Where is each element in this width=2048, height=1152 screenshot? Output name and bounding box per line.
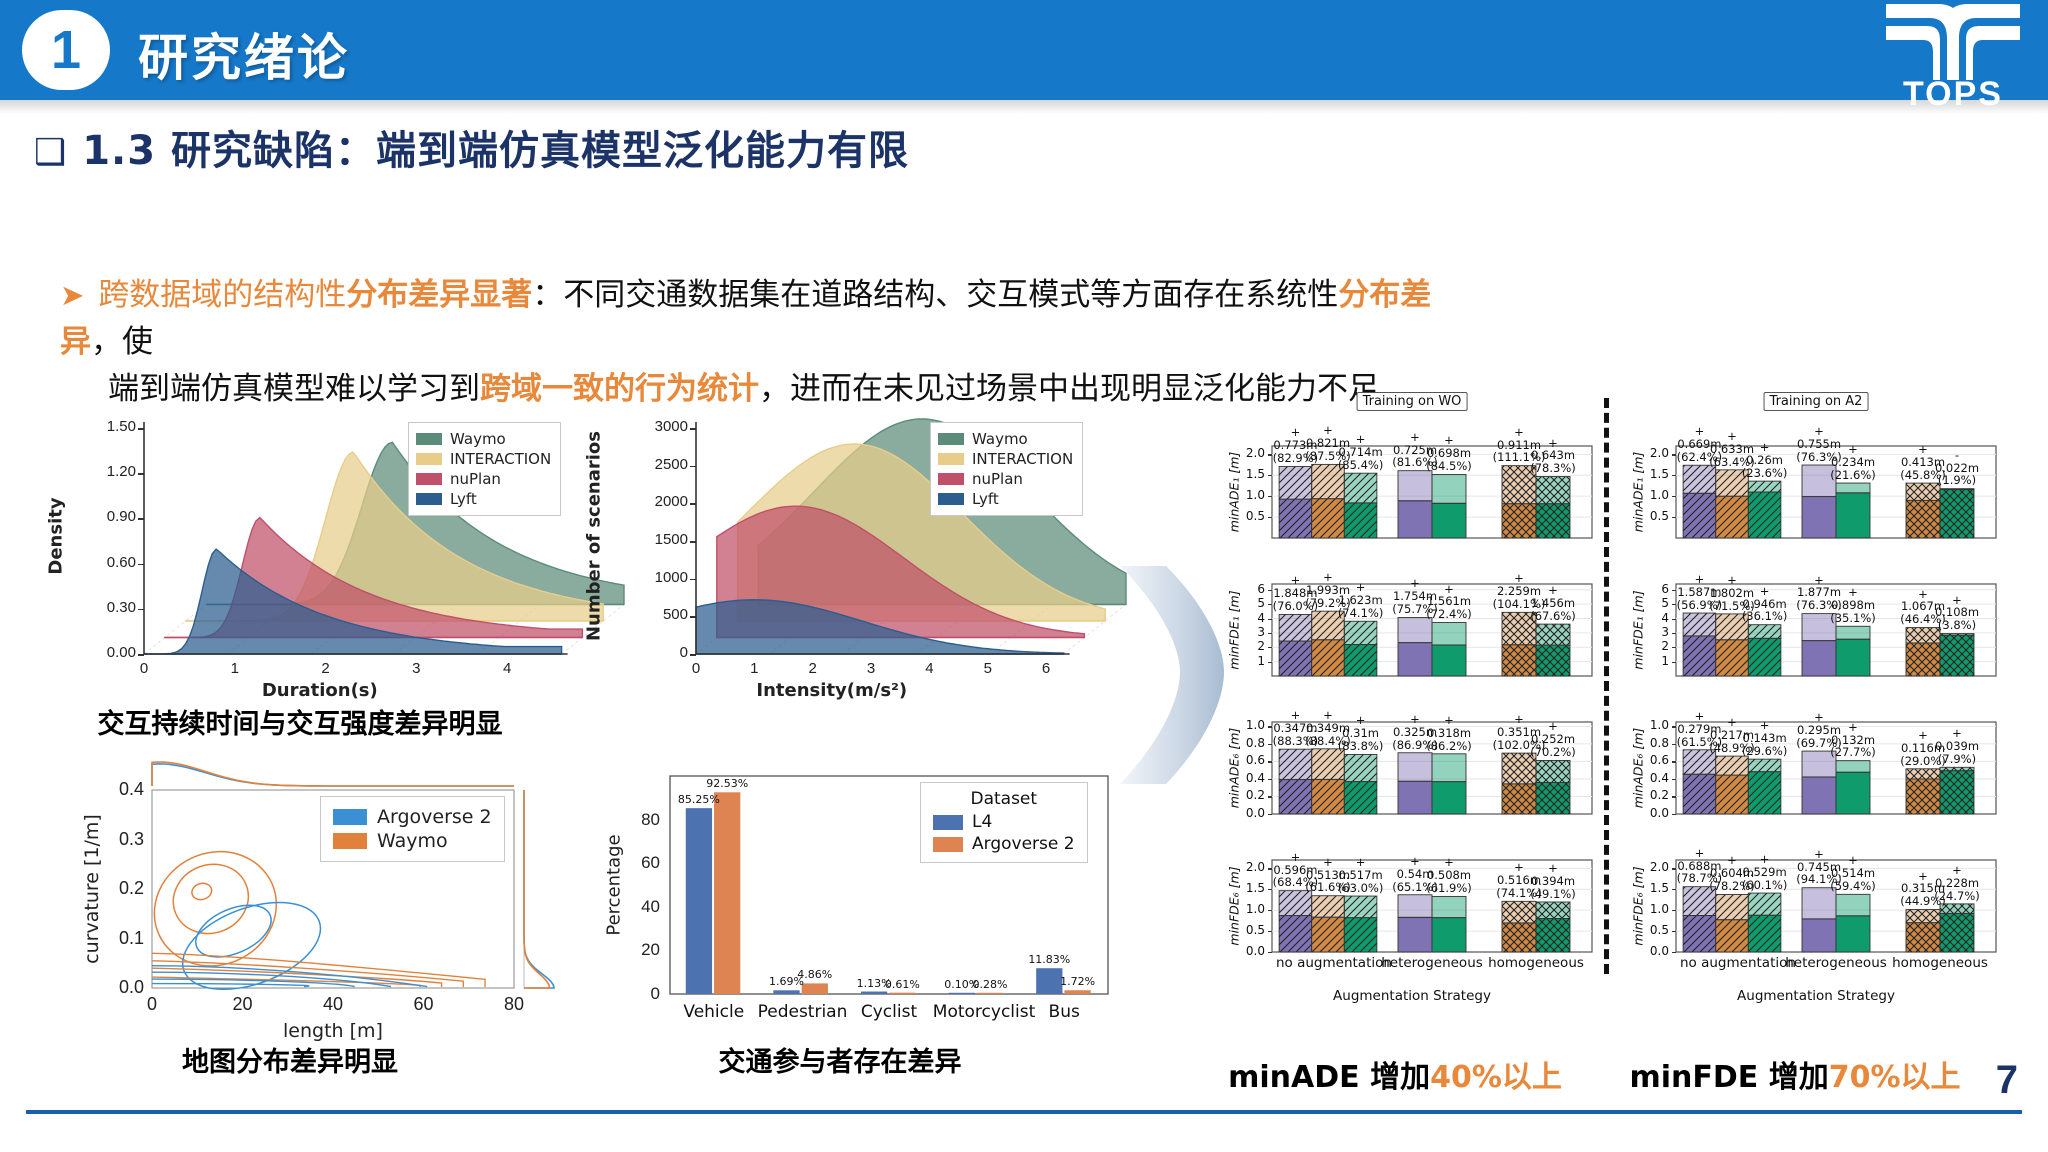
legend-item: L4 [933, 812, 1075, 832]
bar-value-label: +0.898m(35.1%) [1819, 586, 1887, 625]
bar-percent: (36.1%) [1742, 609, 1788, 623]
y-axis-label: minADE₆ [m] [1631, 728, 1646, 809]
legend-swatch [938, 493, 964, 505]
y-tick: 0 [600, 984, 660, 1004]
y-tick-mark [690, 503, 696, 505]
y-tick-mark [1268, 517, 1272, 518]
y-tick-mark [1672, 761, 1676, 762]
bar-percent: (23.6%) [1742, 466, 1788, 480]
y-tick: 3000 [600, 418, 688, 435]
page-number: 7 [1996, 1058, 2018, 1103]
x-category-label: no augmentation [1680, 955, 1784, 971]
bar-percent: (21.6%) [1830, 468, 1876, 482]
y-tick-mark [138, 428, 144, 430]
y-tick-mark [1672, 744, 1676, 745]
y-tick-mark [1672, 496, 1676, 497]
bar-value-label: +0.508m(61.9%) [1415, 856, 1483, 895]
bar-percent: (74.1%) [1338, 606, 1384, 620]
y-tick-mark [1268, 761, 1272, 762]
bar-percent: (70.2%) [1530, 745, 1576, 759]
chart-legend: DatasetL4Argoverse 2 [920, 782, 1088, 863]
x-tick: 4 [493, 660, 521, 677]
y-tick: 0 [600, 644, 688, 661]
section-number-badge: 1 [22, 10, 110, 90]
caption-contour: 地图分布差异明显 [182, 1040, 398, 1079]
y-tick-mark [1672, 633, 1676, 634]
bar-percent: (24.7%) [1934, 889, 1980, 903]
panel-title: Training on A2 [1764, 392, 1869, 411]
legend-item: Waymo [938, 430, 1073, 448]
legend-label: nuPlan [450, 470, 501, 488]
y-tick: 20 [600, 940, 660, 960]
bullet-line1-b: ：不同交通数据集在道路结构、交互模式等方面存在系统性 [532, 277, 1338, 313]
y-axis-label: minADE₁ [m] [1631, 452, 1646, 533]
legend-item: Lyft [938, 490, 1073, 508]
legend-title: Dataset [933, 789, 1075, 809]
x-axis-label: length [m] [152, 1020, 514, 1042]
bar-percent: (86.2%) [1426, 739, 1472, 753]
y-axis-label: minADE₆ [m] [1227, 728, 1242, 809]
bar-percent: (59.4%) [1830, 879, 1876, 893]
y-tick-mark [138, 473, 144, 475]
duration-density-chart: 0.000.300.600.901.201.5001234Duration(s)… [78, 400, 638, 700]
legend-label: Lyft [972, 490, 999, 508]
legend-label: INTERACTION [450, 450, 551, 468]
metric-subplot: +0.669m(62.4%)+0.633m(63.4%)+0.26m(23.6%… [1630, 416, 2002, 554]
y-tick-mark [1268, 619, 1272, 620]
y-tick-mark [1268, 662, 1272, 663]
y-tick-mark [1268, 744, 1272, 745]
legend-item: nuPlan [416, 470, 551, 488]
y-tick-mark [1672, 910, 1676, 911]
y-tick-mark [1268, 796, 1272, 797]
y-tick: 0.00 [78, 644, 136, 661]
legend-label: Waymo [972, 430, 1028, 448]
subsection-title-text: 1.3 研究缺陷：端到端仿真模型泛化能力有限 [82, 128, 909, 174]
x-tick: 3 [857, 660, 885, 677]
y-tick-mark [1268, 475, 1272, 476]
y-axis-label: minFDE₆ [m] [1227, 866, 1242, 945]
summary-minfde: minFDE 增加70%以上 [1629, 1052, 1960, 1096]
x-category-label: homogeneous [1888, 955, 1992, 971]
x-tick: 40 [315, 994, 351, 1015]
bullet-arrow-icon: ➤ [60, 278, 84, 312]
intensity-scenarios-chart: 0500100015002000250030000123456Intensity… [600, 400, 1140, 700]
x-tick: 80 [496, 994, 532, 1015]
summary-minfde-plain: minFDE 增加 [1629, 1060, 1828, 1095]
bar-percent: (67.6%) [1530, 609, 1576, 623]
bar-percent: (84.5%) [1426, 459, 1472, 473]
bar-percent: (35.1%) [1830, 611, 1876, 625]
bar-value-label: +0.394m(49.1%) [1519, 862, 1587, 901]
legend-swatch [933, 815, 963, 830]
x-category-label: heterogeneous [1380, 955, 1484, 971]
y-axis-label: minFDE₁ [m] [1631, 590, 1646, 669]
augmentation-results-panel: Training on WOTraining on A2+0.773m(82.9… [1192, 390, 2040, 1010]
y-tick-mark [138, 654, 144, 656]
y-tick: 1.20 [78, 463, 136, 480]
y-tick: 2000 [600, 493, 688, 510]
y-tick-mark [1672, 952, 1676, 953]
bar-value-label: +0.228m(24.7%) [1923, 864, 1991, 903]
summary-minade-highlight: 40%以上 [1430, 1060, 1562, 1095]
bullet-line1-highlight: 分布差异显著 [346, 277, 532, 313]
bar-percent: (78.3%) [1530, 461, 1576, 475]
legend-swatch [938, 453, 964, 465]
y-axis-label: curvature [1/m] [81, 814, 103, 964]
y-axis-label: minFDE₆ [m] [1631, 866, 1646, 945]
x-tick: 6 [1032, 660, 1060, 677]
summary-minade: minADE 增加40%以上 [1228, 1052, 1562, 1096]
tops-logo: TOPS [1868, 2, 2038, 110]
subsection-title: ❑ 1.3 研究缺陷：端到端仿真模型泛化能力有限 [34, 118, 909, 176]
bar-value-label: +0.132m(27.7%) [1819, 721, 1887, 760]
x-tick: 0 [130, 660, 158, 677]
bar-value-label: +0.234m(21.6%) [1819, 443, 1887, 482]
legend-swatch [416, 453, 442, 465]
bar-percent: (61.9%) [1426, 881, 1472, 895]
y-tick: 500 [600, 606, 688, 623]
y-tick-mark [138, 518, 144, 520]
y-tick: 0.90 [78, 508, 136, 525]
legend-swatch [416, 473, 442, 485]
section-number: 1 [51, 23, 81, 77]
y-tick-mark [690, 654, 696, 656]
caption-bars: 交通参与者存在差异 [719, 1040, 962, 1079]
x-category-label: heterogeneous [1784, 955, 1888, 971]
y-tick-mark [1268, 496, 1272, 497]
panel-title: Training on WO [1357, 392, 1468, 411]
bar-value-label: +0.643m(78.3%) [1519, 437, 1587, 476]
legend-item: INTERACTION [938, 450, 1073, 468]
y-axis-label: Number of scenarios [584, 431, 605, 641]
x-axis-label: Augmentation Strategy [1333, 988, 1491, 1004]
y-axis-label: Percentage [604, 834, 625, 935]
y-tick-mark [1672, 517, 1676, 518]
x-tick: 2 [799, 660, 827, 677]
y-tick-mark [138, 564, 144, 566]
y-tick-mark [1672, 779, 1676, 780]
x-tick: 1 [740, 660, 768, 677]
legend-label: INTERACTION [972, 450, 1073, 468]
y-tick: 0.4 [80, 779, 144, 800]
footer-divider [26, 1110, 2022, 1114]
bar-value-label: +1.456m(67.6%) [1519, 584, 1587, 623]
x-tick: 60 [406, 994, 442, 1015]
x-tick: 2 [312, 660, 340, 677]
bar-percent: (83.8%) [1338, 739, 1384, 753]
y-tick-mark [1672, 868, 1676, 869]
y-tick-mark [1268, 590, 1272, 591]
legend-label: Argoverse 2 [972, 834, 1075, 854]
y-tick: 0.0 [1226, 944, 1265, 958]
legend-label: nuPlan [972, 470, 1023, 488]
bar-value-label: 1.72% [1052, 975, 1104, 988]
bar-value-label: 4.86% [789, 968, 841, 981]
x-tick: 0 [134, 994, 170, 1015]
summary-minfde-highlight: 70%以上 [1829, 1060, 1961, 1095]
y-tick-mark [1672, 647, 1676, 648]
y-tick-mark [138, 609, 144, 611]
y-tick-mark [690, 428, 696, 430]
header-shadow [0, 100, 2048, 114]
legend-swatch [416, 493, 442, 505]
x-category-label: Bus [1020, 1002, 1108, 1022]
legend-swatch [938, 473, 964, 485]
y-tick-mark [1268, 868, 1272, 869]
x-tick: 5 [974, 660, 1002, 677]
bar-percent: (85.4%) [1338, 458, 1384, 472]
x-tick: 1 [221, 660, 249, 677]
bar-value-label: 0.61% [876, 978, 928, 991]
bar-percent: (7.9%) [1938, 752, 1976, 766]
bar-value-label: +1.561m(72.4%) [1415, 583, 1483, 622]
bar-value-label: 85.25% [673, 793, 725, 806]
bar-value-label: 92.53% [701, 777, 753, 790]
metric-subplot: +0.773m(82.9%)+0.821m(87.5%)+0.714m(85.4… [1226, 416, 1598, 554]
legend-label: Argoverse 2 [377, 806, 492, 828]
legend-label: Waymo [450, 430, 506, 448]
bar-value-label: 11.83% [1023, 953, 1075, 966]
tops-tree-logo-icon [1868, 2, 2038, 82]
legend-label: Lyft [450, 490, 477, 508]
y-tick-mark [1268, 952, 1272, 953]
legend-item: Lyft [416, 490, 551, 508]
x-axis-label: Augmentation Strategy [1737, 988, 1895, 1004]
panel-divider [1604, 398, 1609, 974]
summary-minade-plain: minADE 增加 [1228, 1060, 1430, 1095]
y-tick-mark [1672, 726, 1676, 727]
bar-value-label: +0.252m(70.2%) [1519, 720, 1587, 759]
legend-label: Waymo [377, 830, 448, 852]
metric-subplot: +0.596m(68.4%)+0.513m(61.6%)+0.517m(63.0… [1226, 830, 1598, 968]
y-tick-mark [1268, 633, 1272, 634]
y-tick-mark [690, 541, 696, 543]
y-tick-mark [1672, 662, 1676, 663]
y-tick-mark [1672, 889, 1676, 890]
y-tick-mark [1268, 647, 1272, 648]
x-tick: 0 [682, 660, 710, 677]
bar-value-label: 0.28% [964, 978, 1016, 991]
bar-value-label: +0.514m(59.4%) [1819, 854, 1887, 893]
logo-text: TOPS [1868, 75, 2038, 114]
legend-item: Argoverse 2 [333, 806, 492, 828]
metric-subplot: +1.587m(56.9%)+1.802m(71.5%)+0.946m(36.1… [1630, 554, 2002, 692]
bar-percent: (72.4%) [1426, 607, 1472, 621]
y-tick-mark [1672, 454, 1676, 455]
bullet-line1-c: ，使 [91, 324, 153, 360]
y-tick-mark [1268, 889, 1272, 890]
y-tick-mark [1268, 779, 1272, 780]
x-category-label: Cyclist [845, 1002, 933, 1022]
bar-percent: (27.7%) [1830, 745, 1876, 759]
bar-percent: (63.0%) [1338, 881, 1384, 895]
y-tick-mark [1268, 910, 1272, 911]
caption-ridge: 交互持续时间与交互强度差异明显 [98, 702, 503, 741]
y-tick: 1000 [600, 569, 688, 586]
metric-subplot: +0.688m(78.7%)+0.604m(78.2%)+0.529m(60.1… [1630, 830, 2002, 968]
legend-item: INTERACTION [416, 450, 551, 468]
bar-value-label: +0.108m(3.8%) [1923, 594, 1991, 633]
chart-legend: Argoverse 2Waymo [320, 796, 505, 862]
section-marker-icon: ❑ [34, 132, 67, 173]
y-tick-mark [1672, 814, 1676, 815]
bar-percent: (3.8%) [1938, 618, 1976, 632]
y-tick: 1500 [600, 531, 688, 548]
x-category-label: homogeneous [1484, 955, 1588, 971]
bullet-line1-a: 跨数据域的结构性 [98, 277, 346, 313]
y-tick: 2500 [600, 456, 688, 473]
legend-swatch [938, 433, 964, 445]
y-tick-mark [690, 466, 696, 468]
metric-subplot: +0.347m(88.3%)+0.349m(88.4%)+0.31m(83.8%… [1226, 692, 1598, 830]
y-tick-mark [1268, 931, 1272, 932]
bar-value-label: +0.318m(86.2%) [1415, 714, 1483, 753]
agent-type-percentage-chart: 85.25%92.53%1.69%4.86%1.13%0.61%0.10%0.2… [600, 762, 1120, 1042]
y-tick-mark [1672, 796, 1676, 797]
y-tick-mark [1672, 590, 1676, 591]
length-curvature-chart: 0.00.10.20.30.4020406080length [m]curvat… [80, 760, 560, 1040]
legend-item: Waymo [333, 830, 492, 852]
legend-swatch [416, 433, 442, 445]
y-tick-mark [1672, 475, 1676, 476]
chart-legend: WaymoINTERACTIONnuPlanLyft [930, 422, 1083, 516]
y-tick-mark [1672, 604, 1676, 605]
y-tick-mark [1672, 931, 1676, 932]
x-tick: 3 [402, 660, 430, 677]
metric-subplot: +0.279m(61.5%)+0.217m(48.9%)+0.143m(29.6… [1630, 692, 2002, 830]
bar-percent: (49.1%) [1530, 887, 1576, 901]
legend-item: Argoverse 2 [933, 834, 1075, 854]
x-category-label: Pedestrian [758, 1002, 846, 1022]
legend-swatch [333, 809, 367, 825]
y-axis-label: Density [46, 497, 67, 574]
bar-value-label: +0.698m(84.5%) [1415, 434, 1483, 473]
y-tick: 0.30 [78, 599, 136, 616]
y-tick-mark [690, 616, 696, 618]
y-tick-mark [1268, 814, 1272, 815]
metric-subplot: +1.848m(76.0%)+1.993m(79.2%)+1.623m(74.1… [1226, 554, 1598, 692]
y-tick: 0.0 [1630, 944, 1669, 958]
x-axis-label: Duration(s) [78, 680, 562, 701]
legend-swatch [333, 833, 367, 849]
legend-swatch [933, 837, 963, 852]
y-tick-mark [690, 579, 696, 581]
bar-percent: (60.1%) [1742, 878, 1788, 892]
x-category-label: Motorcyclist [933, 1002, 1021, 1022]
y-tick-mark [1268, 454, 1272, 455]
bar-value-label: -0.022m(1.9%) [1923, 449, 1991, 488]
y-tick: 0.60 [78, 554, 136, 571]
bar-value-label: +0.039m(7.9%) [1923, 727, 1991, 766]
y-axis-label: minADE₁ [m] [1227, 452, 1242, 533]
x-category-label: Vehicle [670, 1002, 758, 1022]
legend-label: L4 [972, 812, 992, 832]
y-tick-mark [1268, 726, 1272, 727]
bar-percent: (29.6%) [1742, 744, 1788, 758]
y-axis-label: minFDE₁ [m] [1227, 590, 1242, 669]
y-tick: 1.50 [78, 418, 136, 435]
x-category-label: no augmentation [1276, 955, 1380, 971]
y-tick-mark [1672, 619, 1676, 620]
legend-item: nuPlan [938, 470, 1073, 488]
chart-legend: WaymoINTERACTIONnuPlanLyft [408, 422, 561, 516]
x-tick: 20 [225, 994, 261, 1015]
bar-percent: (1.9%) [1938, 473, 1976, 487]
legend-item: Waymo [416, 430, 551, 448]
x-tick: 4 [915, 660, 943, 677]
x-axis-label: Intensity(m/s²) [600, 680, 1064, 701]
y-tick-mark [1268, 604, 1272, 605]
y-tick: 80 [600, 810, 660, 830]
page-title: 研究绪论 [138, 18, 350, 90]
